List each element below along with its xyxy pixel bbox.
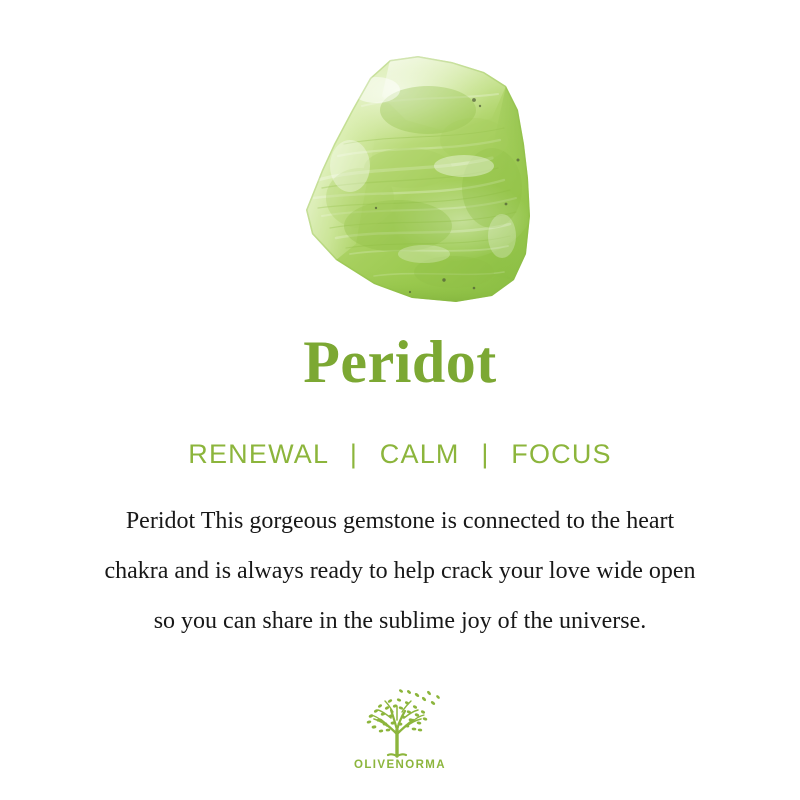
keyword-separator: | [468,441,502,468]
gemstone-image-area [0,0,800,320]
keyword-renewal: RENEWAL [188,439,328,469]
keyword-list: RENEWAL | CALM | FOCUS [0,441,800,468]
description-line: chakra and is always ready to help crack… [30,546,770,596]
description-line: so you can share in the sublime joy of t… [30,596,770,646]
olive-tree-icon [357,686,443,758]
description-line: Peridot This gorgeous gemstone is connec… [30,496,770,546]
product-info-card: Peridot RENEWAL | CALM | FOCUS Peridot T… [0,0,800,800]
keyword-separator: | [337,441,371,468]
brand-name: OLIVENORMA [0,760,800,772]
peridot-gemstone-image [278,48,540,306]
keyword-calm: CALM [380,439,460,469]
keyword-focus: FOCUS [511,439,612,469]
page-title: Peridot [0,332,800,392]
description-text: Peridot This gorgeous gemstone is connec… [30,496,770,646]
peridot-gemstone-svg [278,48,540,306]
brand-logo: OLIVENORMA [0,686,800,772]
